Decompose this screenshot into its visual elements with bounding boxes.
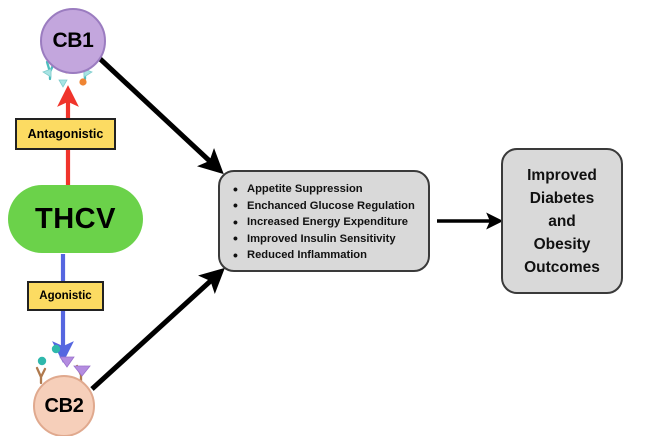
list-item: Appetite Suppression xyxy=(230,181,428,198)
cb2-receptor-node[interactable]: CB2 xyxy=(33,375,95,436)
effects-list: Appetite Suppression Enchanced Glucose R… xyxy=(220,172,428,264)
thcv-node[interactable]: THCV xyxy=(8,185,143,253)
cb1-label: CB1 xyxy=(52,29,93,53)
agonistic-edge-label[interactable]: Agonistic xyxy=(27,281,104,311)
list-item: Enchanced Glucose Regulation xyxy=(230,198,428,215)
antagonistic-edge-label[interactable]: Antagonistic xyxy=(15,118,116,150)
list-item: Improved Insulin Sensitivity xyxy=(230,231,428,248)
outcomes-text: Improved Diabetes and Obesity Outcomes xyxy=(524,164,600,279)
list-item: Increased Energy Expenditure xyxy=(230,214,428,231)
list-item: Reduced Inflammation xyxy=(230,247,428,264)
diagram-canvas: CB1 CB2 THCV Antagonistic Agonistic Appe… xyxy=(0,0,655,436)
agonistic-label-text: Agonistic xyxy=(39,290,91,302)
effects-box[interactable]: Appetite Suppression Enchanced Glucose R… xyxy=(218,170,430,272)
thcv-label: THCV xyxy=(35,203,116,236)
cb1-receptor-node[interactable]: CB1 xyxy=(40,8,106,74)
cb2-label: CB2 xyxy=(44,395,83,418)
antagonistic-label-text: Antagonistic xyxy=(28,127,104,141)
cb2-to-effects-arrow xyxy=(92,276,216,389)
outcomes-box[interactable]: Improved Diabetes and Obesity Outcomes xyxy=(501,148,623,294)
